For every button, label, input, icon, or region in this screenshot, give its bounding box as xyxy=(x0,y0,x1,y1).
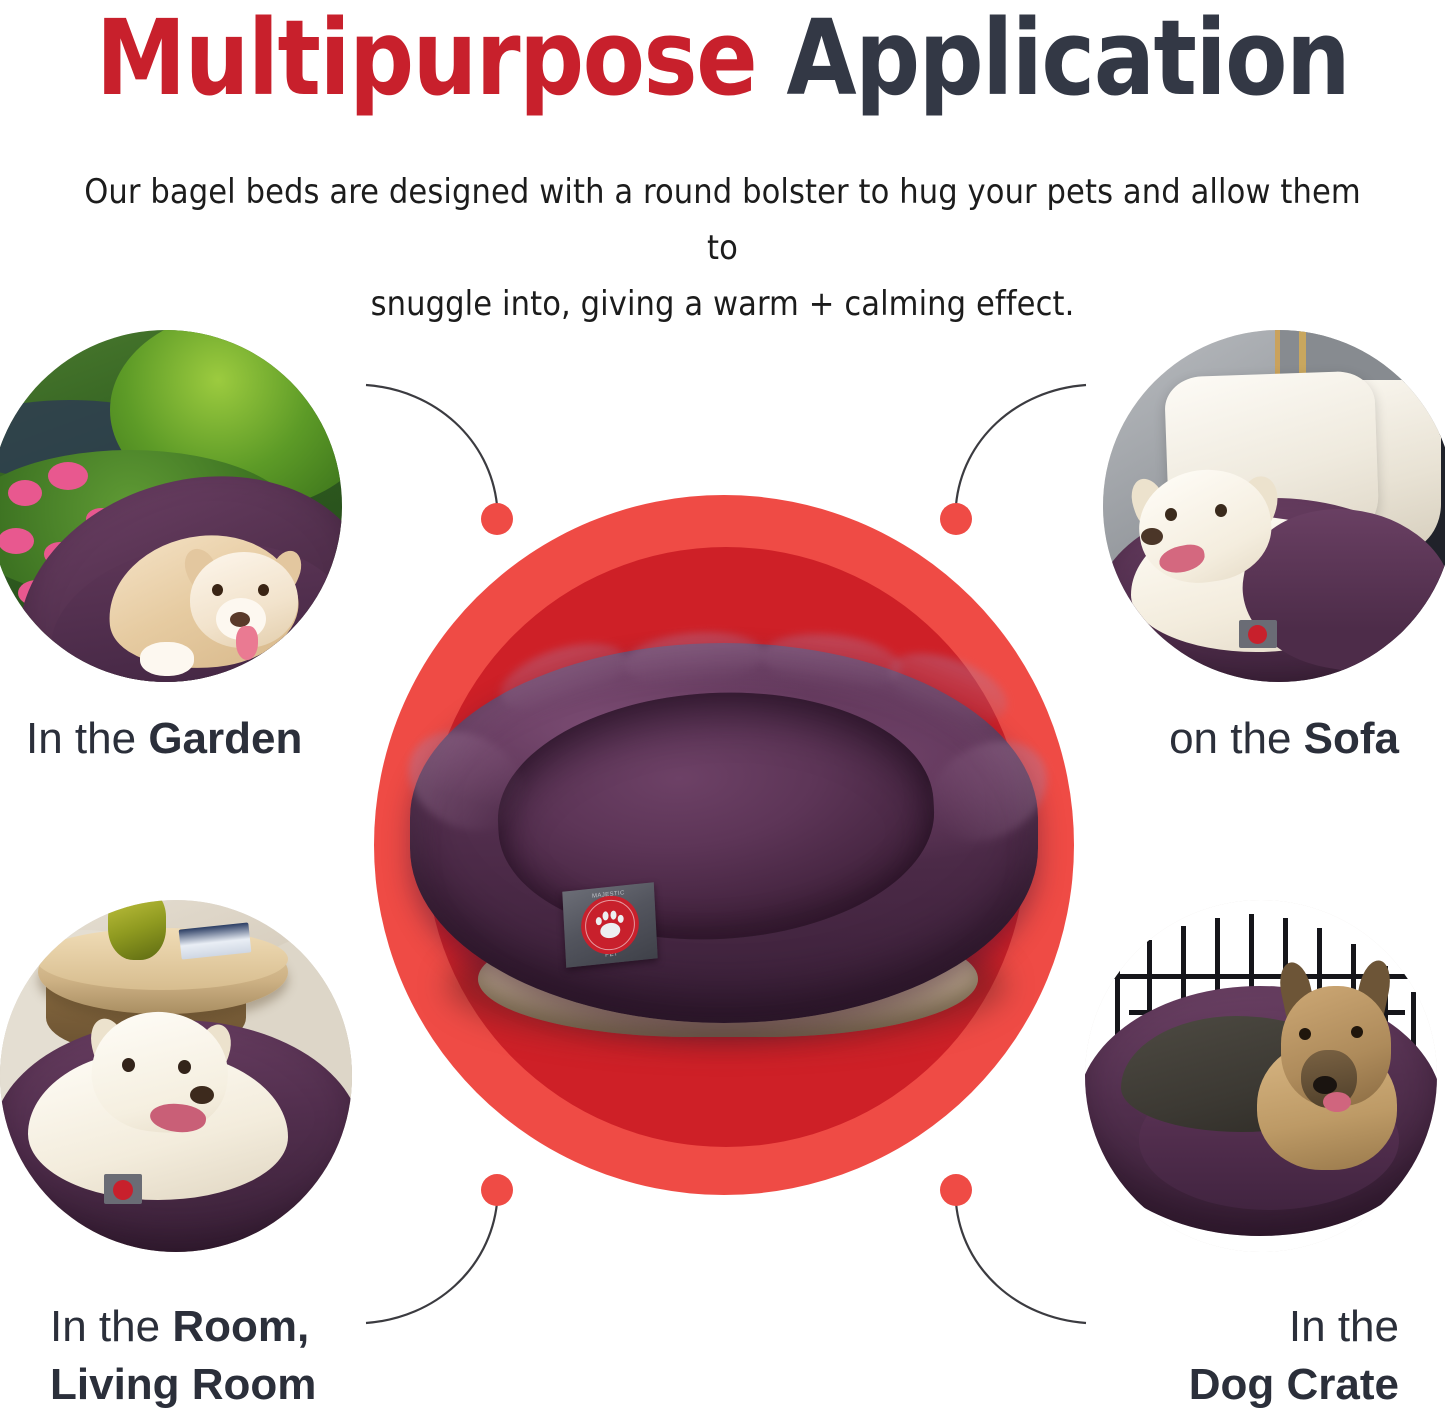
caption-dog-crate-line-2: Dog Crate xyxy=(1189,1356,1399,1414)
connector-line-crate xyxy=(956,1203,1086,1323)
caption-living-room-line-2: Living Room xyxy=(50,1356,316,1414)
photo-bubble-dog-crate xyxy=(1085,900,1437,1252)
caption-living-room-line-1: In the Room, xyxy=(50,1298,316,1356)
brand-tag: MAJESTIC PET xyxy=(562,882,657,968)
subheading-line-1: Our bagel beds are designed with a round… xyxy=(78,164,1368,276)
caption-sofa-bold: Sofa xyxy=(1304,714,1399,763)
paw-print-icon xyxy=(594,908,625,941)
photo-bubble-garden xyxy=(0,330,342,682)
caption-room-regular: In the xyxy=(50,1302,172,1351)
caption-room-bold-2: Living Room xyxy=(50,1360,316,1409)
caption-sofa: on the Sofa xyxy=(1169,710,1399,768)
photo-bubble-living-room xyxy=(0,900,352,1252)
page-title-part2: Application xyxy=(786,0,1349,119)
subheading-line-2: snuggle into, giving a warm + calming ef… xyxy=(78,276,1368,332)
caption-living-room: In the Room, Living Room xyxy=(50,1298,316,1414)
connector-line-garden xyxy=(366,385,497,505)
connector-line-room xyxy=(366,1203,497,1323)
connector-line-sofa xyxy=(956,385,1086,505)
subheading: Our bagel beds are designed with a round… xyxy=(78,164,1368,332)
caption-crate-regular: In the xyxy=(1289,1302,1399,1351)
caption-dog-crate-line-1: In the xyxy=(1189,1298,1399,1356)
caption-garden-bold: Garden xyxy=(148,714,302,763)
page-title-part1: Multipurpose xyxy=(96,0,756,119)
hero-product-circle: MAJESTIC PET xyxy=(374,495,1074,1195)
caption-room-bold: Room, xyxy=(172,1302,309,1351)
page-title: Multipurpose Application xyxy=(22,2,1424,114)
caption-garden-regular: In the xyxy=(26,714,148,763)
product-dog-bed-image: MAJESTIC PET xyxy=(386,625,1062,1065)
caption-crate-bold-2: Dog Crate xyxy=(1189,1360,1399,1409)
caption-garden: In the Garden xyxy=(26,710,302,768)
caption-sofa-regular: on the xyxy=(1169,714,1304,763)
photo-bubble-sofa xyxy=(1103,330,1445,682)
caption-dog-crate: In the Dog Crate xyxy=(1189,1298,1399,1414)
header: Multipurpose Application Our bagel beds … xyxy=(0,0,1445,300)
